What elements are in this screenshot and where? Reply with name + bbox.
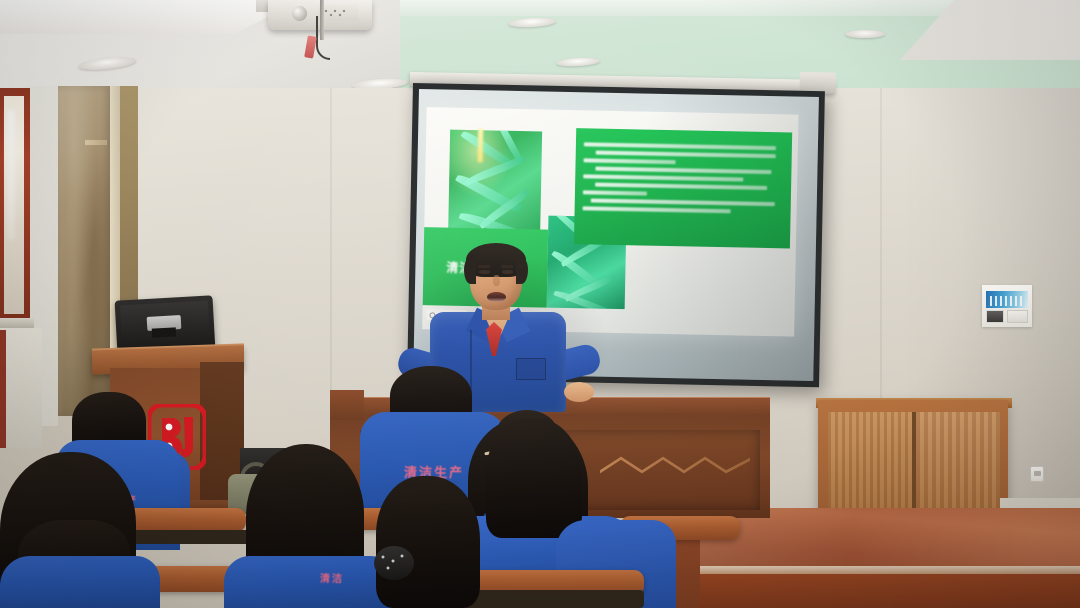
head-table-return (330, 390, 364, 420)
projector-cable (316, 16, 330, 60)
projector-lens-icon (292, 6, 307, 21)
presenter-eyebrow-left (478, 265, 490, 268)
wall-notice-photo (986, 310, 1004, 323)
wall-notice-graphic (990, 296, 1022, 306)
cabinet-door-gap (912, 412, 916, 510)
presenter-eyebrow-right (501, 265, 513, 268)
presenter-mouth (487, 292, 506, 302)
wall-socket-slot (1034, 471, 1041, 476)
cabinet-door-left[interactable] (828, 412, 912, 510)
wall-seam (330, 88, 332, 418)
presenter-chest-pocket (516, 358, 546, 380)
attendee-front-left-uniform (0, 556, 160, 608)
presenter-right-hand (564, 382, 594, 402)
scrunchie-pattern (378, 552, 408, 574)
window-lower-frame (0, 330, 6, 448)
wall-notice-text-block (1007, 310, 1028, 323)
presenter-nose (493, 275, 500, 286)
screen-roller-bracket (800, 72, 836, 93)
stage-front-face (700, 574, 1080, 608)
presenter-eye-left (479, 270, 490, 274)
attendee-center-left-uniform-text: 清洁 (320, 570, 344, 585)
recessed-downlight-icon (845, 30, 885, 38)
conference-room-photo: 清洁生产措施 (0, 0, 1080, 608)
window-lower-wall (0, 328, 42, 448)
attendee-center-right-hair (376, 476, 480, 608)
monitor-stand-neck (152, 327, 176, 337)
cabinet-door-right[interactable] (916, 412, 1000, 510)
marble-notch (85, 140, 107, 145)
wall-seam (880, 88, 882, 428)
window-glare (7, 110, 15, 240)
presenter-eye-right (502, 270, 513, 274)
attendee-right-hair (486, 418, 582, 538)
presenter-hair-left (464, 258, 476, 284)
window-sill (0, 318, 34, 328)
